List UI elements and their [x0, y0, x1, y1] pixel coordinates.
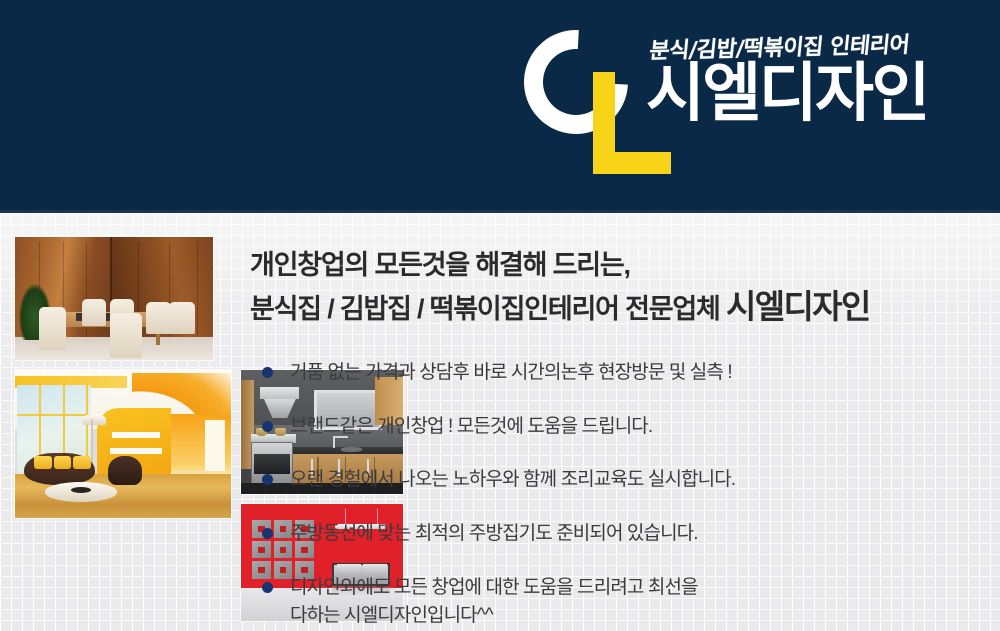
bullet-dot-icon [262, 528, 273, 539]
list-item-text: 브랜드같은 개인창업 ! 모든것에 도움을 드립니다. [290, 416, 652, 437]
lounge-door [205, 420, 224, 470]
promo-banner-page: 분식/김밥/떡볶이집 인테리어 시엘디자인 [0, 0, 1000, 631]
bullet-dot-icon [262, 474, 273, 485]
lounge-table-tray [71, 487, 90, 493]
headline-line-1: 개인창업의 모든것을 해결해 드리는, [250, 248, 990, 283]
promo-copy: 개인창업의 모든것을 해결해 드리는, 분식집 / 김밥집 / 떡볶이집인테리어… [250, 248, 990, 629]
photo-yellow-lounge [14, 369, 232, 519]
list-item-text: 주방동선에 맞는 최적의 주방집기도 준비되어 있습니다. [290, 523, 698, 544]
company-logo: 분식/김밥/떡볶이집 인테리어 시엘디자인 [518, 24, 978, 194]
lounge-shelf [110, 448, 162, 454]
lounge-lamp-shade [82, 414, 106, 424]
feature-list: 거품 없는 가격과 상담후 바로 시간의논후 현장방문 및 실측 ! 브랜드같은… [250, 359, 990, 629]
dining-chair [82, 299, 106, 326]
lounge-cushion [73, 456, 90, 469]
bullet-dot-icon [262, 582, 273, 593]
headline-line-2-prefix: 분식집 / 김밥집 / 떡볶이집인테리어 전문업체 [250, 294, 726, 324]
headline-brand-name: 시엘디자인 [726, 288, 870, 325]
dining-chair [39, 307, 67, 350]
logo-l-horizontal-stroke [593, 152, 671, 174]
list-item-text: 오랜 경험에서 나오는 노하우와 함께 조리교육도 실시합니다. [290, 469, 735, 490]
bullet-dot-icon [262, 421, 273, 432]
photo-dining-room [14, 236, 214, 361]
list-item: 오랜 경험에서 나오는 노하우와 함께 조리교육도 실시합니다. [250, 466, 990, 494]
lounge-cushion [54, 456, 71, 469]
list-item-text: 거품 없는 가격과 상담후 바로 시간의논후 현장방문 및 실측 ! [290, 362, 732, 383]
list-item: 브랜드같은 개인창업 ! 모든것에 도움을 드립니다. [250, 413, 990, 441]
list-item: 거품 없는 가격과 상담후 바로 시간의논후 현장방문 및 실측 ! [250, 359, 990, 387]
lounge-cushion [34, 456, 51, 469]
dining-chair [169, 302, 195, 334]
headline-line-2: 분식집 / 김밥집 / 떡볶이집인테리어 전문업체 시엘디자인 [250, 286, 990, 329]
dining-chair [110, 313, 142, 357]
dining-panel-line [197, 242, 198, 338]
header-banner: 분식/김밥/떡볶이집 인테리어 시엘디자인 [0, 0, 1000, 213]
lounge-armchair [108, 456, 143, 486]
list-item: 디자인외에도 모든 창업에 대한 도움을 드리려고 최선을 다하는 시엘디자인입… [250, 574, 990, 629]
page-title: 개인창업의 모든것을 해결해 드리는, 분식집 / 김밥집 / 떡볶이집인테리어… [250, 248, 990, 329]
dining-chair [146, 302, 172, 334]
list-item-text: 디자인외에도 모든 창업에 대한 도움을 드리려고 최선을 다하는 시엘디자인입… [290, 577, 698, 626]
bullet-dot-icon [262, 367, 273, 378]
list-item: 주방동선에 맞는 최적의 주방집기도 준비되어 있습니다. [250, 520, 990, 548]
lounge-shelf [112, 432, 160, 438]
lounge-window-rail [17, 414, 90, 416]
logo-wordmark: 시엘디자인 [646, 62, 928, 126]
